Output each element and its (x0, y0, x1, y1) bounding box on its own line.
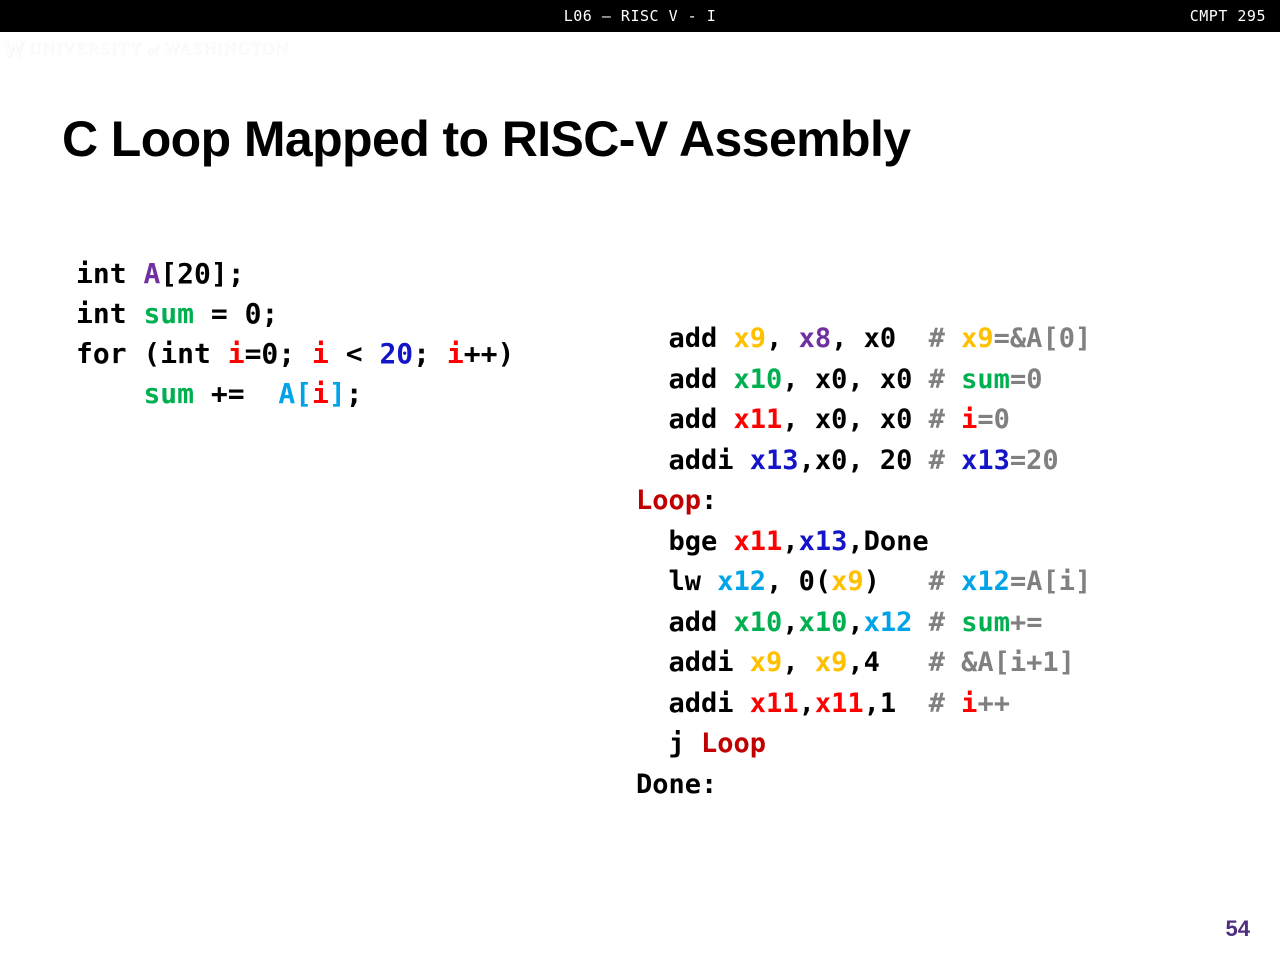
code-token: j (636, 728, 701, 759)
c-line-4: sum += A[i]; (76, 377, 363, 410)
code-token: i (447, 337, 464, 370)
asm-line-3: add x11, x0, x0 # i=0 (636, 404, 1010, 435)
asm-line-4: addi x13,x0, 20 # x13=20 (636, 445, 1059, 476)
code-token: # (929, 323, 962, 354)
code-token: x13 (961, 445, 1010, 476)
code-token: # (929, 607, 962, 638)
code-token: += (194, 377, 278, 410)
code-token: addi (636, 688, 750, 719)
page-title: C Loop Mapped to RISC-V Assembly (62, 110, 910, 168)
code-token: : (701, 485, 717, 516)
code-token: # (929, 404, 962, 435)
code-token: i (961, 688, 977, 719)
asm-line-9: addi x9, x9,4 # &A[i+1] (636, 647, 1075, 678)
code-token: addi (636, 445, 750, 476)
c-line-1: int A[20]; (76, 257, 245, 290)
code-token: int (76, 297, 143, 330)
asm-line-12: Done: (636, 769, 717, 800)
code-token: sum (143, 297, 194, 330)
asm-line-1: add x9, x8, x0 # x9=&A[0] (636, 323, 1091, 354)
code-token: i (961, 404, 977, 435)
uw-word-washington: WASHINGTON (164, 39, 289, 58)
slide-header-bar: L06 – RISC V - I CMPT 295 (0, 0, 1280, 32)
asm-line-10: addi x11,x11,1 # i++ (636, 688, 1010, 719)
c-line-3: for (int i=0; i < 20; i++) (76, 337, 514, 370)
code-token: = 0; (194, 297, 278, 330)
code-token: =0 (977, 404, 1010, 435)
code-token: x10 (799, 607, 848, 638)
code-token: , x0, x0 (782, 364, 928, 395)
asm-line-6: bge x11,x13,Done (636, 526, 929, 557)
code-token: Loop (636, 485, 701, 516)
asm-line-8: add x10,x10,x12 # sum+= (636, 607, 1043, 638)
slide-page-number: 54 (1226, 916, 1250, 942)
code-token: # (929, 688, 962, 719)
code-token: # (929, 566, 962, 597)
code-token: ,x0, 20 (799, 445, 929, 476)
code-token: , (782, 607, 798, 638)
code-token: ; (413, 337, 447, 370)
code-token: add (636, 404, 734, 435)
code-token: i (312, 377, 329, 410)
code-token: # (929, 445, 962, 476)
code-token: =0; (245, 337, 312, 370)
code-token: add (636, 364, 734, 395)
code-token: x9 (750, 647, 783, 678)
code-token: sum (143, 377, 194, 410)
code-token: add (636, 607, 734, 638)
code-token: , x0 (831, 323, 929, 354)
code-token: Loop (701, 728, 766, 759)
code-token: ,4 (847, 647, 928, 678)
code-token: int (76, 257, 143, 290)
code-token: ,1 (864, 688, 929, 719)
code-token: x13 (799, 526, 848, 557)
c-source-code-block: int A[20]; int sum = 0; for (int i=0; i … (76, 254, 514, 414)
riscv-assembly-code-block: add x9, x8, x0 # x9=&A[0] add x10, x0, x… (636, 319, 1091, 805)
c-line-2: int sum = 0; (76, 297, 278, 330)
code-token: add (636, 323, 734, 354)
code-token: , (799, 688, 815, 719)
asm-line-2: add x10, x0, x0 # sum=0 (636, 364, 1042, 395)
code-token: A[ (278, 377, 312, 410)
code-token: =0 (1010, 364, 1043, 395)
code-token: x10 (734, 364, 783, 395)
course-code: CMPT 295 (1190, 0, 1266, 32)
lecture-title: L06 – RISC V - I (0, 0, 1280, 32)
code-token: x11 (750, 688, 799, 719)
code-token: &A[i+1] (961, 647, 1075, 678)
asm-line-5: Loop: (636, 485, 717, 516)
asm-line-11: j Loop (636, 728, 766, 759)
code-token: bge (636, 526, 734, 557)
university-of-washington-logo: W UNIVERSITY of WASHINGTON (2, 36, 312, 62)
code-token (76, 377, 143, 410)
code-token: x9 (815, 647, 848, 678)
code-token: i (312, 337, 329, 370)
uw-word-of: of (148, 42, 159, 57)
code-token: ) (864, 566, 929, 597)
uw-word-university: UNIVERSITY (29, 39, 142, 58)
code-token: < (329, 337, 380, 370)
code-token: , (847, 607, 863, 638)
code-token: x12 (961, 566, 1010, 597)
code-token: x9 (831, 566, 864, 597)
code-token: A (143, 257, 160, 290)
code-token: , 0( (766, 566, 831, 597)
code-token: sum (961, 607, 1010, 638)
uw-w-mark-icon: W (2, 38, 22, 61)
code-token: x11 (734, 526, 783, 557)
code-token: lw (636, 566, 717, 597)
code-token: , (766, 323, 799, 354)
code-token: x12 (717, 566, 766, 597)
code-token: x9 (734, 323, 767, 354)
code-token: for (int (76, 337, 228, 370)
code-token: ,Done (847, 526, 928, 557)
code-token: =&A[0] (994, 323, 1092, 354)
code-token: 20 (379, 337, 413, 370)
code-token: , x0, x0 (782, 404, 928, 435)
code-token: addi (636, 647, 750, 678)
code-token: x13 (750, 445, 799, 476)
uw-wordmark: UNIVERSITY of WASHINGTON (29, 39, 289, 59)
code-token: x12 (864, 607, 913, 638)
code-token: , (782, 647, 815, 678)
asm-line-7: lw x12, 0(x9) # x12=A[i] (636, 566, 1091, 597)
code-token: += (1010, 607, 1043, 638)
code-token: x9 (961, 323, 994, 354)
code-token: =20 (1010, 445, 1059, 476)
code-token: ] (329, 377, 346, 410)
code-token: =A[i] (1010, 566, 1091, 597)
code-token: Done: (636, 769, 717, 800)
code-token: x11 (734, 404, 783, 435)
code-token: x10 (734, 607, 783, 638)
code-token: x11 (815, 688, 864, 719)
code-token: x8 (799, 323, 832, 354)
code-token: ++) (464, 337, 515, 370)
code-token: sum (961, 364, 1010, 395)
code-token (912, 607, 928, 638)
code-token: [20]; (160, 257, 244, 290)
code-token: # (929, 364, 962, 395)
code-token: # (929, 647, 962, 678)
code-token: ++ (977, 688, 1010, 719)
code-token: i (228, 337, 245, 370)
code-token: , (782, 526, 798, 557)
code-token: ; (346, 377, 363, 410)
